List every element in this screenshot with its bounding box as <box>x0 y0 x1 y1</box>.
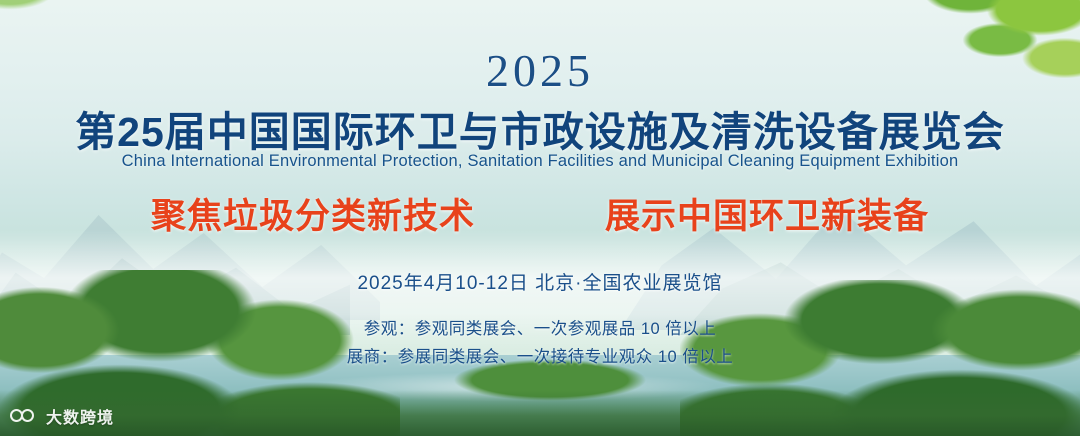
note-line-exhibitor: 展商：参展同类展会、一次接待专业观众 10 倍以上 <box>0 343 1080 371</box>
exhibition-banner: 2025 第25届中国国际环卫与市政设施及清洗设备展览会 China Inter… <box>0 0 1080 436</box>
title-english: China International Environmental Protec… <box>0 152 1080 171</box>
banner-content: 2025 第25届中国国际环卫与市政设施及清洗设备展览会 China Inter… <box>0 0 1080 436</box>
watermark: 大数跨境 <box>10 404 114 428</box>
slogan-left: 聚焦垃圾分类新技术 <box>151 188 475 239</box>
watermark-label: 大数跨境 <box>46 404 114 428</box>
two-rings-logo-icon <box>10 407 40 425</box>
slogan-right: 展示中国环卫新装备 <box>605 188 929 239</box>
year-heading: 2025 <box>0 44 1080 97</box>
title-chinese: 第25届中国国际环卫与市政设施及清洗设备展览会 <box>0 98 1080 158</box>
note-line-visitor: 参观：参观同类展会、一次参观展品 10 倍以上 <box>0 315 1080 343</box>
date-venue-line: 2025年4月10-12日 北京·全国农业展览馆 <box>0 268 1080 295</box>
slogan-row: 聚焦垃圾分类新技术 展示中国环卫新装备 <box>0 188 1080 239</box>
notes-block: 参观：参观同类展会、一次参观展品 10 倍以上 展商：参展同类展会、一次接待专业… <box>0 315 1080 371</box>
